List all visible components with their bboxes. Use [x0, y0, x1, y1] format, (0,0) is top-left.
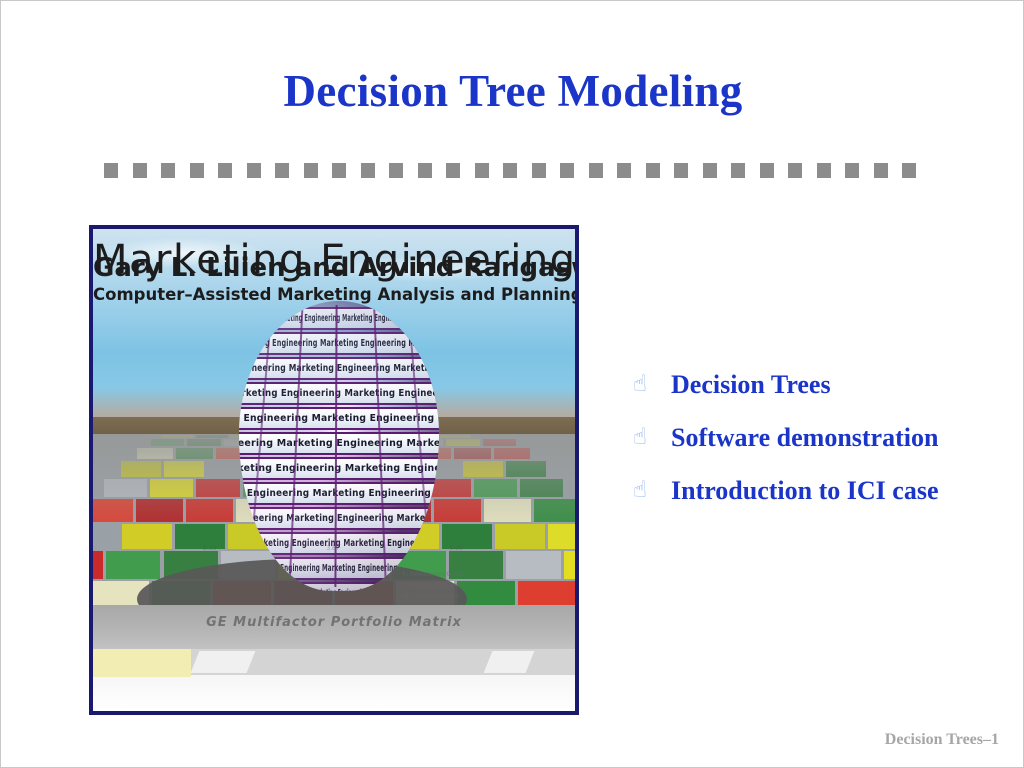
cover-wedge-right	[484, 651, 535, 673]
cover-author-band	[93, 649, 575, 711]
divider-dash	[674, 163, 688, 178]
divider-dash	[418, 163, 432, 178]
cover-legend-line: III : Harvest/Divest	[403, 591, 553, 602]
divider-dash	[731, 163, 745, 178]
bullet-label: Software demonstration	[671, 422, 943, 453]
divider-dash	[560, 163, 574, 178]
cover-legend: I : Investment/GrowthII : Selectivity/Ea…	[403, 569, 553, 602]
cover-chart-caption: GE Multifactor Portfolio Matrix	[93, 615, 575, 630]
divider-dash	[161, 163, 175, 178]
pointing-hand-bullet-icon: ☝	[633, 422, 671, 452]
cover-yellow-patch	[93, 649, 191, 677]
cover-wedge-left	[191, 651, 256, 673]
egg-text-band: Marketing Engineering Marketing Engineer…	[239, 482, 439, 505]
egg-text-band: Marketing Engineering Marketing Engineer…	[239, 407, 439, 430]
divider-dash	[589, 163, 603, 178]
divider-dash	[304, 163, 318, 178]
presentation-slide: Decision Tree Modeling Marketing Enginee…	[0, 0, 1024, 768]
egg-text-band: Marketing Engineering Marketing Engineer…	[283, 582, 395, 591]
divider-dash	[218, 163, 232, 178]
bullet-item: ☝Introduction to ICI case	[633, 475, 943, 506]
divider-dash	[845, 163, 859, 178]
divider-dash	[817, 163, 831, 178]
divider-dash	[646, 163, 660, 178]
slide-footer: Decision Trees–1	[885, 731, 999, 749]
cover-axis-number: 2.33	[203, 545, 216, 552]
cover-legend-line: I : Investment/Growth	[403, 569, 553, 580]
divider-dash	[475, 163, 489, 178]
pointing-hand-bullet-icon: ☝	[633, 369, 671, 399]
divider-dash	[532, 163, 546, 178]
bullet-label: Decision Trees	[671, 369, 943, 400]
bullet-item: ☝Decision Trees	[633, 369, 943, 400]
egg-text-band: Marketing Engineering Marketing Engineer…	[239, 357, 439, 380]
egg-text-band: Marketing Engineering Marketing Engineer…	[239, 382, 439, 405]
bullet-label: Introduction to ICI case	[671, 475, 943, 506]
cover-axis-numbers: 2.333.675.00	[203, 545, 463, 552]
divider-dash	[874, 163, 888, 178]
cover-legend-line: II : Selectivity/Earnings	[403, 580, 553, 591]
divider-dash	[617, 163, 631, 178]
egg-text-band: Marketing Engineering Marketing Engineer…	[272, 307, 406, 330]
cover-axis-number: 3.67	[326, 545, 339, 552]
cover-title: Marketing Engineering	[93, 237, 575, 283]
divider-dash	[703, 163, 717, 178]
egg-text-band: Marketing Engineering Marketing Engineer…	[239, 457, 439, 480]
divider-dash	[247, 163, 261, 178]
divider-dash	[190, 163, 204, 178]
egg-text-band: Marketing Engineering Marketing Engineer…	[239, 432, 439, 455]
divider-dash	[788, 163, 802, 178]
divider-dash	[361, 163, 375, 178]
egg-text-band: Marketing Engineering Marketing Engineer…	[255, 332, 424, 355]
egg-text-band: Marketing Engineering Marketing Engineer…	[239, 507, 439, 530]
cover-subtitle: Computer–Assisted Marketing Analysis and…	[93, 285, 575, 304]
book-cover-artwork: Marketing Engineering Marketing Engineer…	[93, 229, 575, 711]
divider-dash	[902, 163, 916, 178]
divider-dash	[389, 163, 403, 178]
slide-title: Decision Tree Modeling	[1, 65, 1024, 117]
divider-dash	[446, 163, 460, 178]
divider-dash	[760, 163, 774, 178]
divider-dash	[332, 163, 346, 178]
bullet-list: ☝Decision Trees☝Software demonstration☝I…	[633, 369, 943, 528]
divider-dash	[275, 163, 289, 178]
divider-dash	[133, 163, 147, 178]
bullet-item: ☝Software demonstration	[633, 422, 943, 453]
divider-dash	[104, 163, 118, 178]
book-cover-image: Marketing Engineering Marketing Engineer…	[89, 225, 579, 715]
dashed-divider	[104, 163, 916, 178]
divider-dash	[503, 163, 517, 178]
pointing-hand-bullet-icon: ☝	[633, 475, 671, 505]
cover-axis-number: 5.00	[450, 545, 463, 552]
egg-text-band: Marketing Engineering Marketing Engineer…	[265, 557, 413, 580]
